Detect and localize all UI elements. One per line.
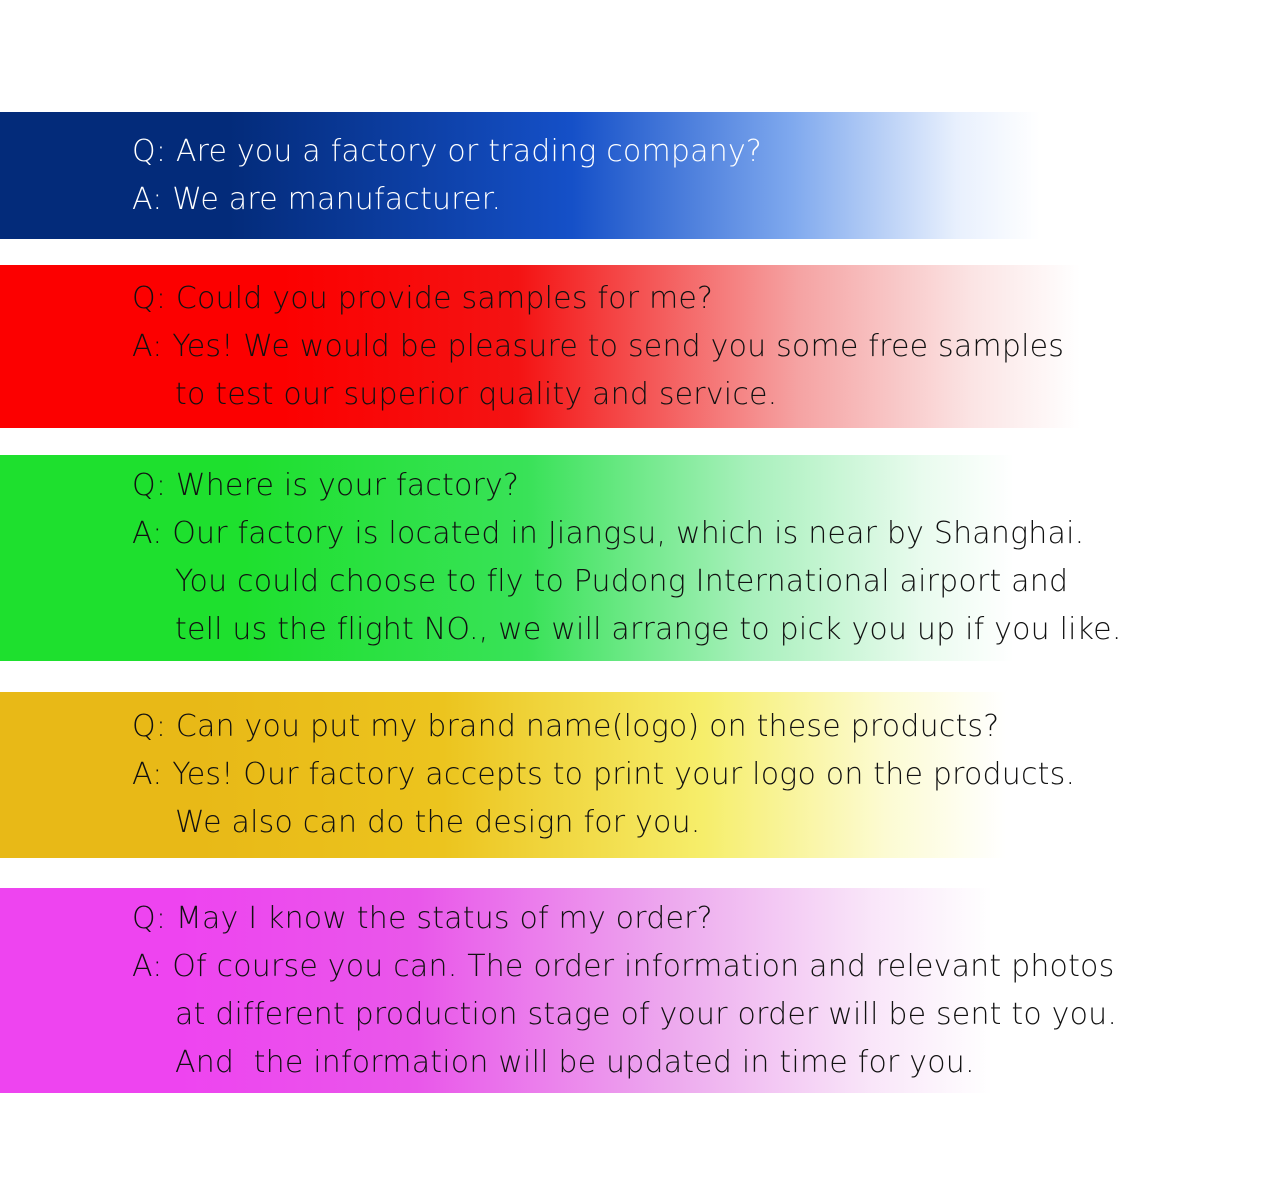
faq-band-provide-samples: Q: Could you provide samples for me? A: … (0, 265, 1080, 428)
faq-line: Q: Could you provide samples for me? (0, 275, 1080, 323)
faq-line: A: Yes! Our factory accepts to print you… (0, 751, 1006, 799)
faq-line: A: Yes! We would be pleasure to send you… (0, 323, 1080, 371)
faq-line: And the information will be updated in t… (0, 1039, 992, 1087)
faq-line: Q: May I know the status of my order? (0, 895, 992, 943)
faq-line: to test our superior quality and service… (0, 371, 1080, 419)
faq-line: A: We are manufacturer. (0, 176, 1040, 224)
faq-line: Q: Can you put my brand name(logo) on th… (0, 703, 1006, 751)
faq-line: A: Our factory is located in Jiangsu, wh… (0, 510, 1014, 558)
faq-line: tell us the flight NO., we will arrange … (0, 606, 1014, 654)
faq-band-factory-location: Q: Where is your factory? A: Our factory… (0, 455, 1014, 661)
faq-band-factory-or-trading: Q: Are you a factory or trading company?… (0, 112, 1040, 239)
faq-line: Q: Where is your factory? (0, 462, 1014, 510)
faq-line: Q: Are you a factory or trading company? (0, 128, 1040, 176)
faq-band-order-status: Q: May I know the status of my order? A:… (0, 888, 992, 1093)
faq-line: We also can do the design for you. (0, 799, 1006, 847)
faq-line: at different production stage of your or… (0, 991, 992, 1039)
faq-line: A: Of course you can. The order informat… (0, 943, 992, 991)
faq-band-stack: Q: Are you a factory or trading company?… (0, 0, 1280, 1200)
faq-line: You could choose to fly to Pudong Intern… (0, 558, 1014, 606)
faq-band-brand-logo-printing: Q: Can you put my brand name(logo) on th… (0, 692, 1006, 858)
